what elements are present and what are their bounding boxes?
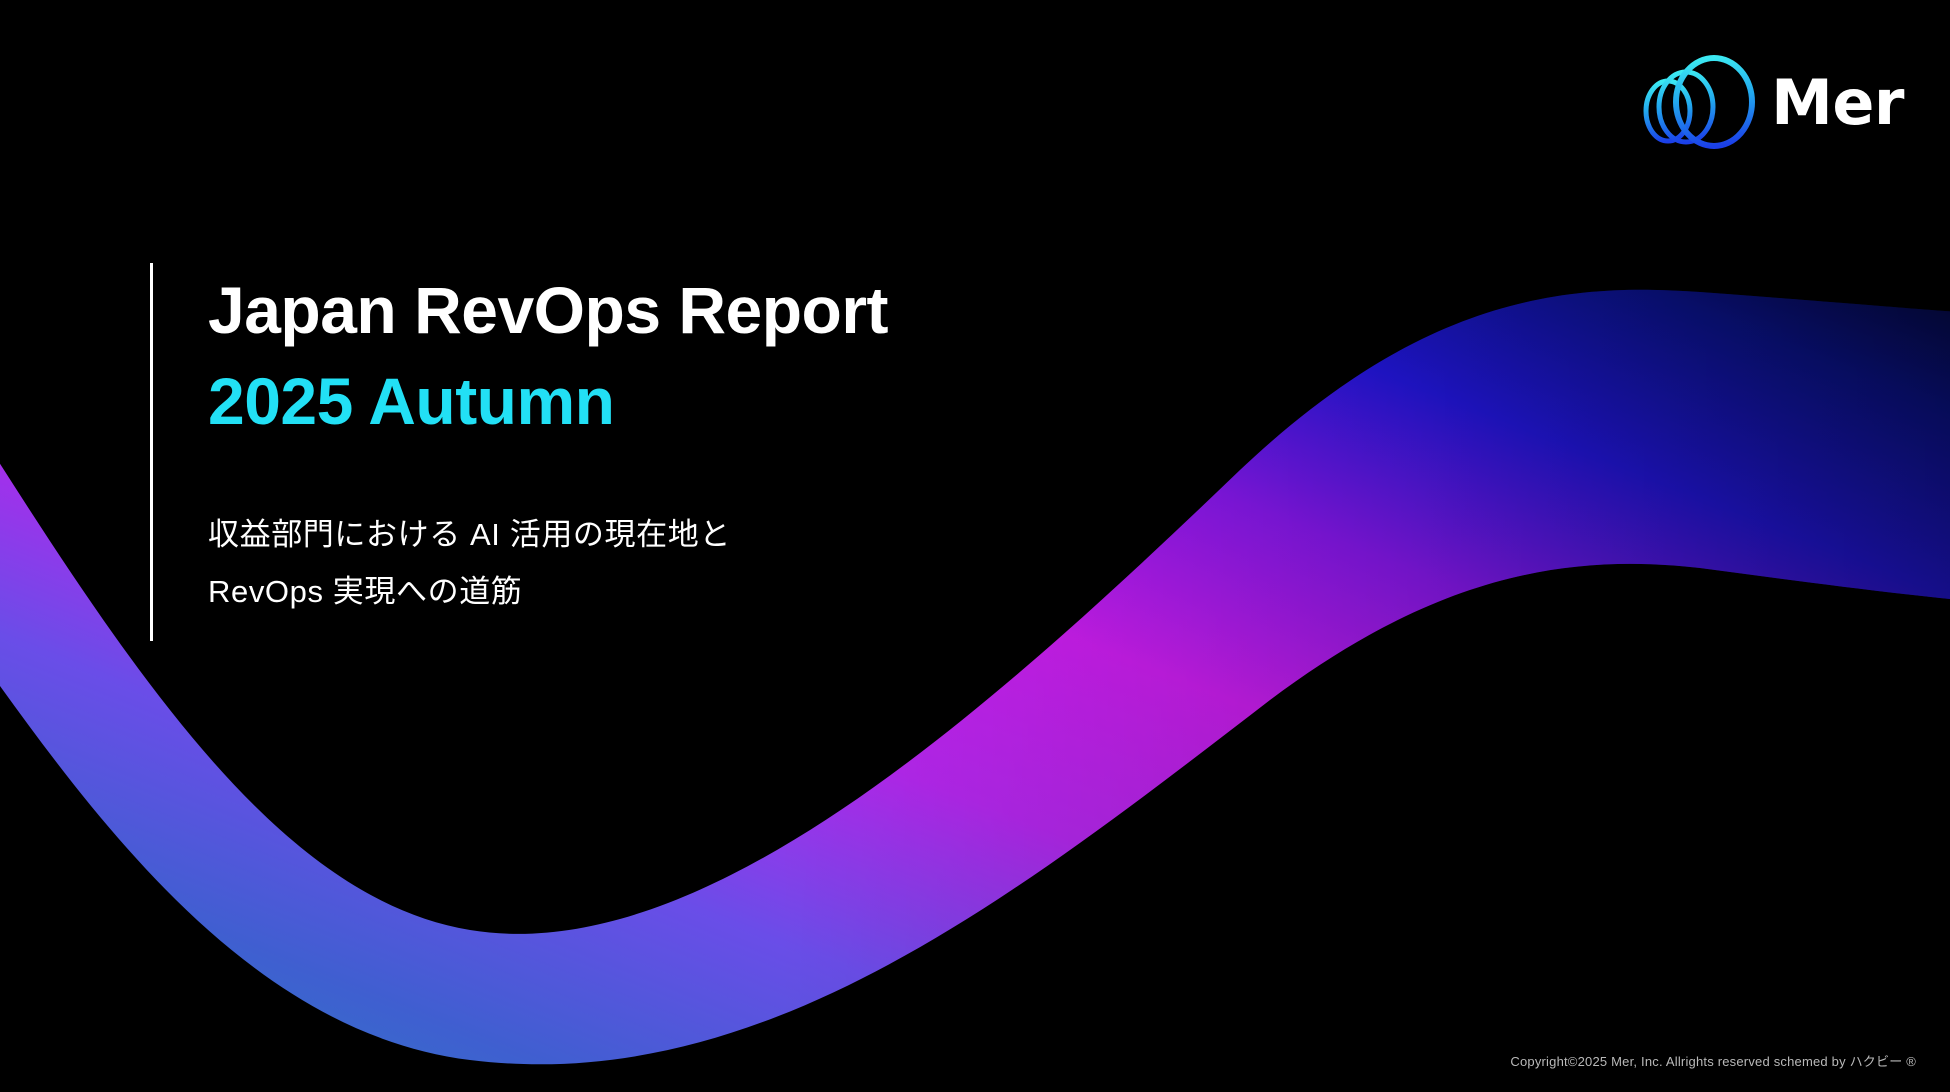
subtitle-line-1: 収益部門における AI 活用の現在地と [208,507,1208,563]
copyright-footer: Copyright©2025 Mer, Inc. Allrights reser… [1510,1051,1916,1070]
title-accent-rule [150,263,153,641]
title-slide: Mer Japan RevOps Report 2025 Autumn 収益部門… [0,0,1950,1092]
page-title: Japan RevOps Report [208,272,1208,349]
mer-rings-icon [1635,49,1765,157]
title-text-block: Japan RevOps Report 2025 Autumn 収益部門における… [208,272,1208,620]
page-title-edition: 2025 Autumn [208,363,1208,440]
brand-logo: Mer [1635,48,1904,158]
brand-wordmark: Mer [1771,72,1904,134]
subtitle-block: 収益部門における AI 活用の現在地と RevOps 実現への道筋 [208,507,1208,620]
subtitle-line-2: RevOps 実現への道筋 [208,564,1208,620]
